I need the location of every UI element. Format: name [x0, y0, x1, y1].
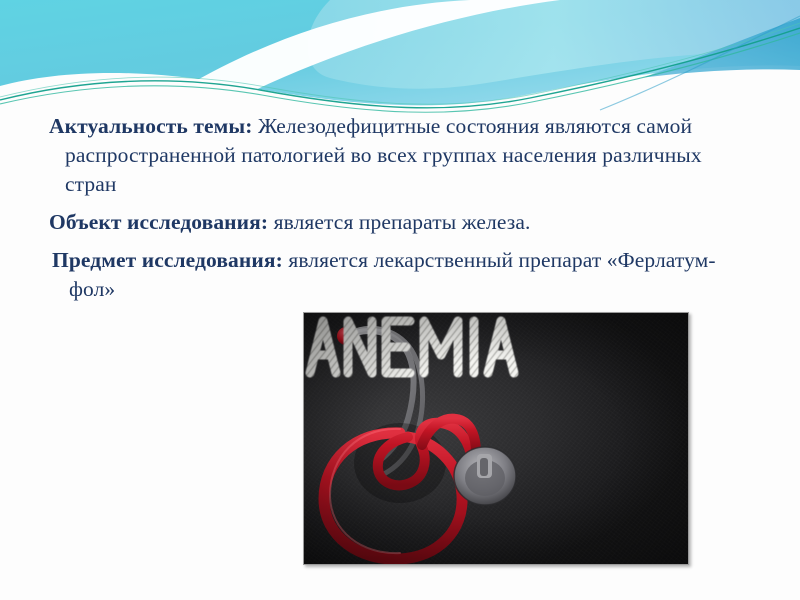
- swoosh-band-main: [0, 0, 800, 105]
- paragraph-subject: Предмет исследования: является лекарстве…: [44, 246, 756, 304]
- slide-body-text: Актуальность темы: Железодефицитные сост…: [44, 112, 756, 306]
- swoosh-band-light: [308, 0, 800, 89]
- swoosh-band-right-blue: [560, 18, 800, 106]
- swoosh-svg: [0, 0, 800, 130]
- anemia-photo: [303, 312, 689, 565]
- paragraph-subject-lead: Предмет исследования:: [52, 248, 283, 272]
- swoosh-green-line-3: [0, 23, 800, 104]
- paragraph-relevance: Актуальность темы: Железодефицитные сост…: [44, 112, 756, 199]
- paragraph-relevance-lead: Актуальность темы:: [49, 114, 253, 138]
- swoosh-green-line-1: [0, 28, 800, 108]
- slide: Актуальность темы: Железодефицитные сост…: [0, 0, 800, 600]
- header-swoosh-decoration: [0, 0, 800, 130]
- swoosh-blue-line-1: [600, 16, 800, 110]
- paragraph-object-lead: Объект исследования:: [49, 210, 268, 234]
- paragraph-object-body: является препараты железа.: [268, 210, 530, 234]
- chalkboard-background: [304, 313, 688, 564]
- swoosh-green-line-2: [0, 33, 800, 112]
- paragraph-object: Объект исследования: является препараты …: [44, 208, 756, 237]
- photo-vignette: [304, 313, 688, 564]
- swoosh-white-ribbon: [120, 0, 560, 130]
